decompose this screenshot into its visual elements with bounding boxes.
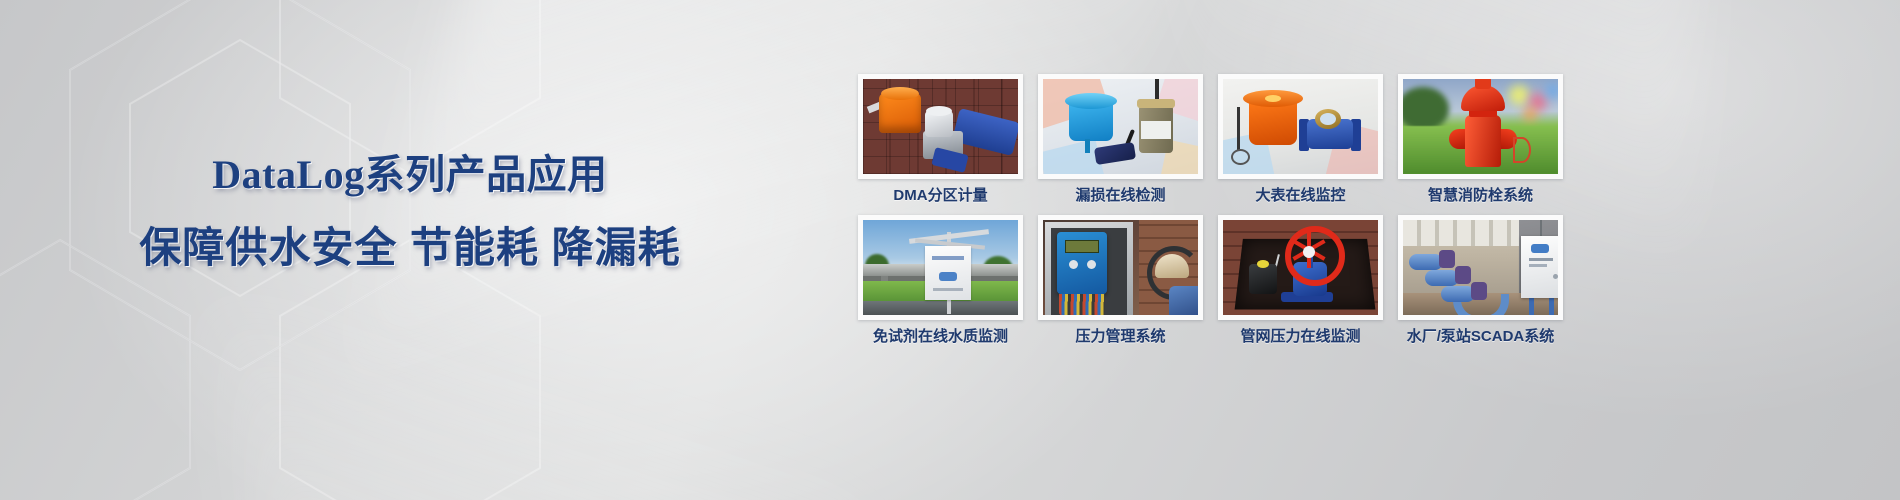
product-caption: DMA分区计量	[893, 188, 987, 203]
dma-zone-metering-icon	[863, 79, 1018, 174]
product-card[interactable]: DMA分区计量	[858, 74, 1023, 203]
product-caption: 水厂/泵站SCADA系统	[1407, 329, 1555, 344]
product-caption: 免试剂在线水质监测	[873, 329, 1008, 344]
product-caption: 漏损在线检测	[1075, 188, 1165, 203]
product-card[interactable]: 大表在线监控	[1218, 74, 1383, 203]
product-caption: 智慧消防栓系统	[1428, 188, 1533, 203]
product-card[interactable]: 智慧消防栓系统	[1398, 74, 1563, 203]
product-caption: 管网压力在线监测	[1240, 329, 1360, 344]
product-card[interactable]: 免试剂在线水质监测	[858, 215, 1023, 344]
product-image-frame	[1398, 215, 1563, 320]
reagent-free-water-quality-icon	[863, 220, 1018, 315]
light-glare-bottom	[205, 300, 914, 500]
scada-system-icon	[1403, 220, 1558, 315]
product-card[interactable]: 压力管理系统	[1038, 215, 1203, 344]
product-grid: DMA分区计量 漏损在线检测	[858, 74, 1563, 344]
large-meter-monitoring-icon	[1223, 79, 1378, 174]
product-image-frame	[1218, 74, 1383, 179]
product-image-frame	[1038, 215, 1203, 320]
pipe-pressure-monitoring-icon	[1223, 220, 1378, 315]
leak-online-detection-icon	[1043, 79, 1198, 174]
product-image-frame	[858, 215, 1023, 320]
product-card[interactable]: 漏损在线检测	[1038, 74, 1203, 203]
product-caption: 压力管理系统	[1075, 329, 1165, 344]
product-image-frame	[1218, 215, 1383, 320]
smart-hydrant-icon	[1403, 79, 1558, 174]
product-image-frame	[1038, 74, 1203, 179]
headline-line-1: DataLog系列产品应用	[0, 150, 820, 200]
product-image-frame	[858, 74, 1023, 179]
product-caption: 大表在线监控	[1255, 188, 1345, 203]
product-card[interactable]: 水厂/泵站SCADA系统	[1398, 215, 1563, 344]
product-application-banner: DataLog系列产品应用 保障供水安全 节能耗 降漏耗 DMA分区计量	[0, 0, 1900, 500]
headline-line-2: 保障供水安全 节能耗 降漏耗	[0, 222, 820, 275]
product-card[interactable]: 管网压力在线监测	[1218, 215, 1383, 344]
headline-block: DataLog系列产品应用 保障供水安全 节能耗 降漏耗	[0, 150, 820, 275]
pressure-management-icon	[1043, 220, 1198, 315]
product-image-frame	[1398, 74, 1563, 179]
